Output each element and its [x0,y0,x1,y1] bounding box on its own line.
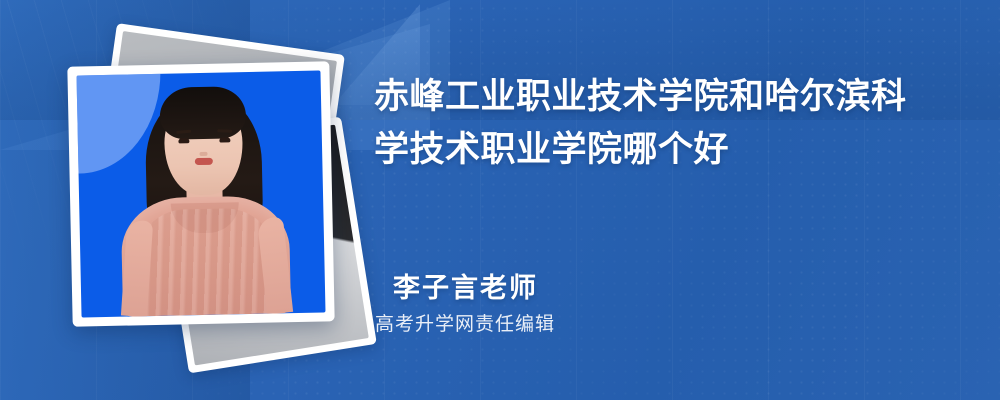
portrait-figure [114,89,295,317]
author-portrait-photo [76,70,325,317]
author-name: 李子言老师 [374,272,555,304]
author-role: 高考升学网责任编辑 [374,312,555,338]
author-block: 李子言老师 高考升学网责任编辑 [374,272,555,338]
page-title-line-2: 学技术职业学院哪个好 [374,123,966,176]
article-cover-banner: 赤峰工业职业技术学院和哈尔滨科 学技术职业学院哪个好 李子言老师 高考升学网责任… [0,0,1000,400]
portrait-eye-right [219,137,230,142]
portrait-mouth [195,158,213,165]
portrait-eye-left [178,138,189,143]
banner-text-column: 赤峰工业职业技术学院和哈尔滨科 学技术职业学院哪个好 李子言老师 高考升学网责任… [374,0,976,400]
page-title-line-1: 赤峰工业职业技术学院和哈尔滨科 [374,70,966,123]
photo-card-stack [52,38,352,358]
photo-card-front [67,61,334,326]
page-title: 赤峰工业职业技术学院和哈尔滨科 学技术职业学院哪个好 [374,70,966,176]
portrait-nose [199,152,207,156]
portrait-hair-front [159,86,246,140]
